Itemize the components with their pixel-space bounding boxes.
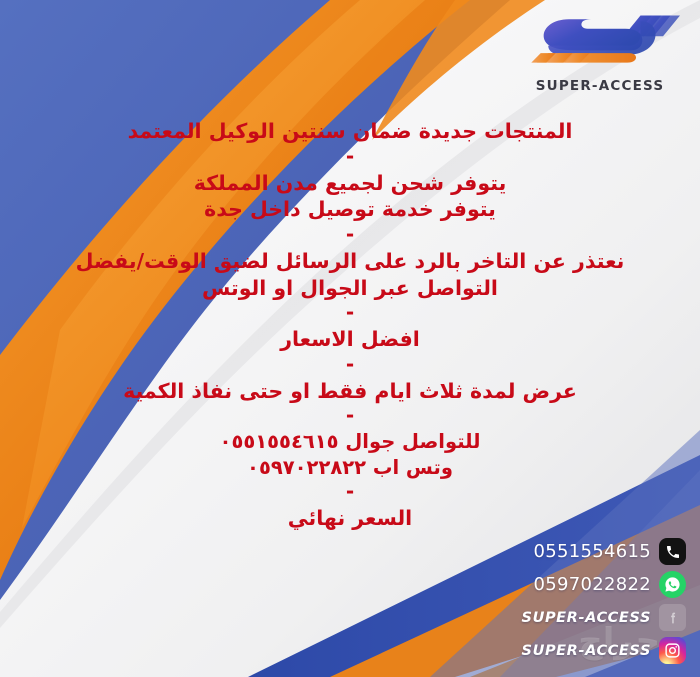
- copy-contact-whatsapp: وتس اب ٠٥٩٧٠٢٢٨٢٢: [0, 455, 700, 480]
- copy-separator-2: -: [0, 223, 700, 248]
- copy-apology-1: نعتذر عن التاخر بالرد على الرسائل لضيق ا…: [0, 248, 700, 275]
- copy-separator-4: -: [0, 353, 700, 378]
- super-access-mark-icon: [520, 8, 680, 78]
- copy-separator-6: -: [0, 480, 700, 505]
- copy-shipping-1: يتوفر شحن لجميع مدن المملكة: [0, 170, 700, 197]
- copy-separator-3: -: [0, 301, 700, 326]
- whatsapp-icon[interactable]: [659, 571, 686, 598]
- contact-row-instagram[interactable]: SUPER-ACCESS: [476, 634, 686, 667]
- copy-shipping-2: يتوفر خدمة توصيل داخل جدة: [0, 196, 700, 223]
- phone-number: 0551554615: [533, 541, 651, 562]
- instagram-icon[interactable]: [659, 637, 686, 664]
- instagram-handle: SUPER-ACCESS: [522, 643, 651, 659]
- copy-offer-duration: عرض لمدة ثلاث ايام فقط او حتى نفاذ الكمي…: [0, 378, 700, 405]
- contact-block: 0551554615 0597022822 SUPER-ACCESS: [476, 535, 686, 667]
- copy-best-prices: افضل الاسعار: [0, 326, 700, 353]
- logo-wordmark: SUPER-ACCESS: [520, 78, 680, 94]
- facebook-handle: SUPER-ACCESS: [522, 610, 651, 626]
- brand-logo: SUPER-ACCESS: [520, 8, 680, 98]
- contact-row-phone[interactable]: 0551554615: [476, 535, 686, 568]
- contact-row-facebook[interactable]: SUPER-ACCESS: [476, 601, 686, 634]
- contact-row-whatsapp[interactable]: 0597022822: [476, 568, 686, 601]
- copy-headline: المنتجات جديدة ضمان سنتين الوكيل المعتمد: [0, 118, 700, 145]
- copy-separator-1: -: [0, 145, 700, 170]
- poster-canvas: SUPER-ACCESS المنتجات جديدة ضمان سنتين ا…: [0, 0, 700, 677]
- copy-apology-2: التواصل عبر الجوال او الوتس: [0, 275, 700, 302]
- copy-separator-5: -: [0, 404, 700, 429]
- phone-icon[interactable]: [659, 538, 686, 565]
- copy-contact-mobile: للتواصل جوال ٠٥٥١٥٥٤٦١٥: [0, 429, 700, 454]
- whatsapp-number: 0597022822: [533, 574, 651, 595]
- ad-copy: المنتجات جديدة ضمان سنتين الوكيل المعتمد…: [0, 118, 700, 532]
- facebook-icon[interactable]: [659, 604, 686, 631]
- copy-final-price: السعر نهائي: [0, 505, 700, 532]
